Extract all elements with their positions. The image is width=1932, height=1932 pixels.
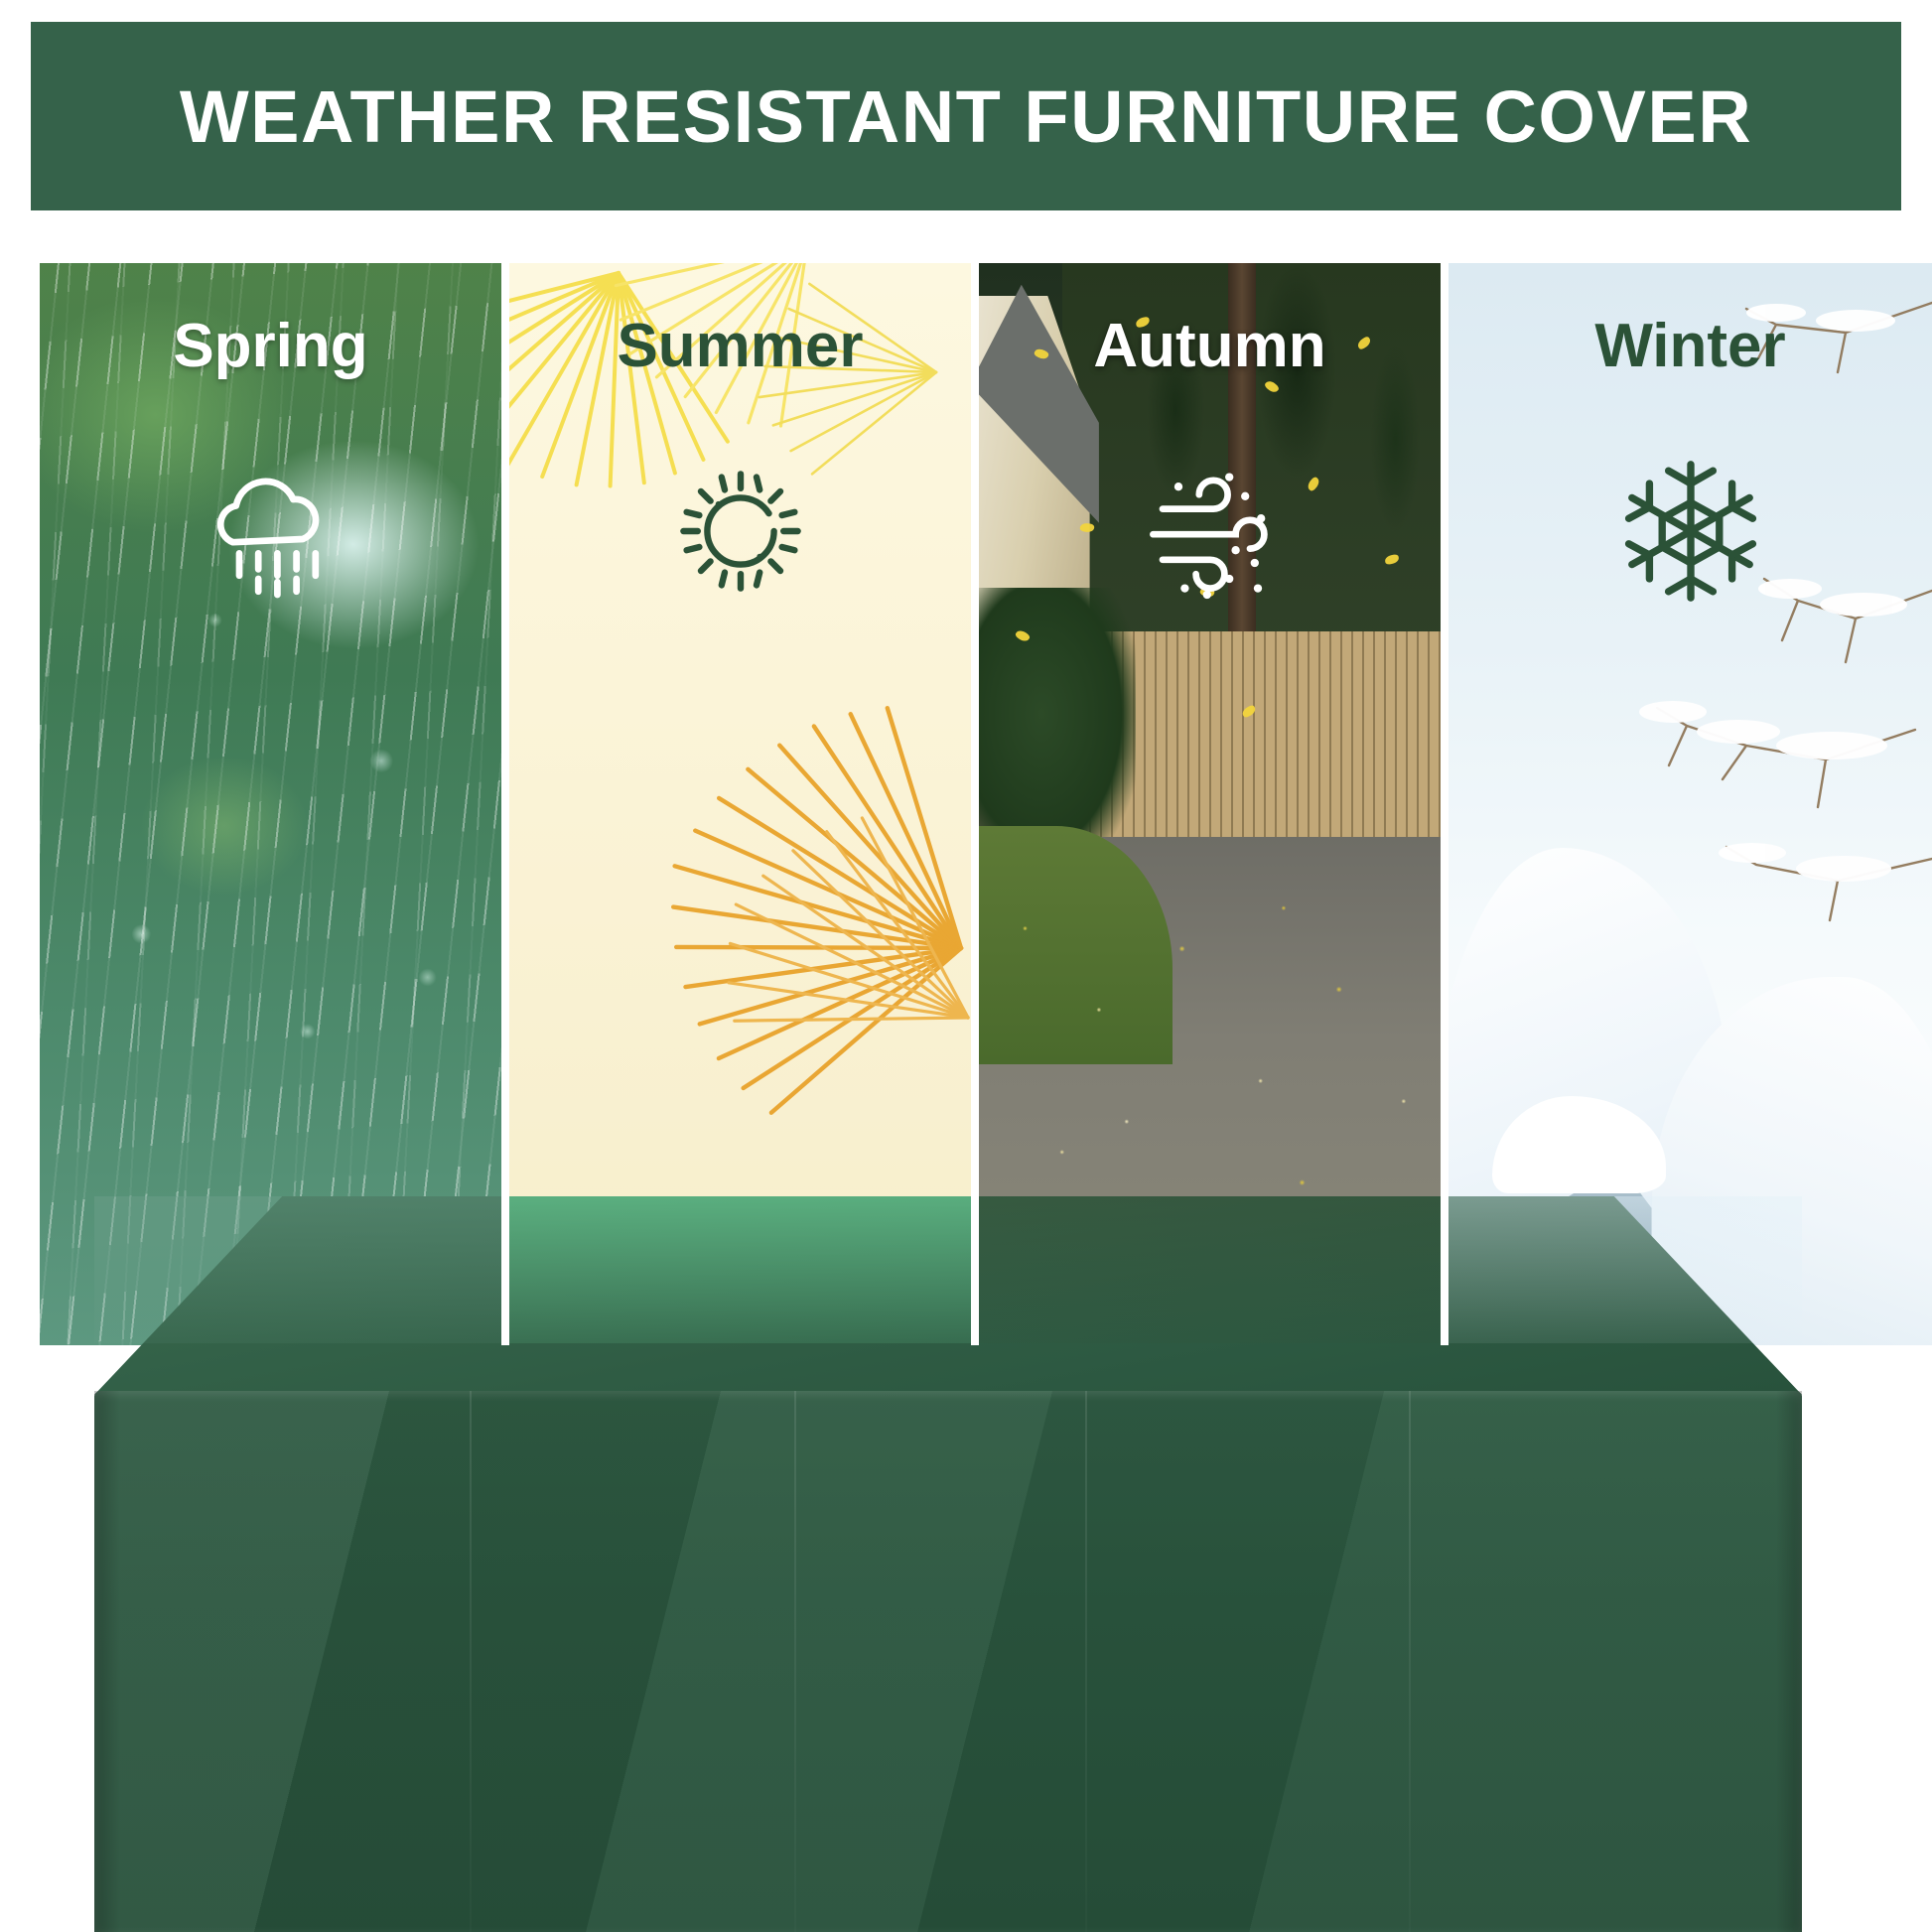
season-panel-spring: Spring	[40, 263, 501, 1345]
panel-seam	[32, 263, 40, 1345]
wind-icon	[1131, 452, 1290, 611]
cover-fold	[1409, 1391, 1411, 1932]
winter-scene-art	[1449, 263, 1932, 1345]
rain-cloud-icon	[192, 452, 350, 611]
autumn-scene-art	[979, 263, 1441, 1345]
cover-fold	[470, 1391, 472, 1932]
page-title: WEATHER RESISTANT FURNITURE COVER	[180, 74, 1752, 159]
cover-front-panel	[94, 1391, 1802, 1932]
season-label-spring: Spring	[40, 311, 501, 381]
sun-icon	[661, 452, 820, 611]
palm-frond-top	[509, 263, 971, 1345]
palm-frond-bottom	[617, 664, 971, 1151]
cover-top-surface	[94, 1196, 1802, 1395]
product-marketing-image: Spring	[0, 0, 1932, 1932]
season-panel-winter: Winter	[1449, 263, 1932, 1345]
season-panel-summer: Summer	[509, 263, 971, 1345]
cover-fold	[794, 1391, 796, 1932]
panel-seam	[1441, 263, 1449, 1345]
rain-streaks	[40, 263, 501, 1345]
furniture-cover	[0, 1196, 1932, 1932]
snowflake-icon	[1611, 452, 1770, 611]
season-panel-autumn: Autumn	[979, 263, 1441, 1345]
summer-scene-art	[509, 263, 971, 1345]
season-label-autumn: Autumn	[979, 311, 1441, 381]
season-label-winter: Winter	[1449, 311, 1932, 381]
cover-right-edge	[1776, 1391, 1802, 1932]
cover-left-edge	[94, 1391, 120, 1932]
panel-seam	[971, 263, 979, 1345]
panel-seam	[501, 263, 509, 1345]
season-label-summer: Summer	[509, 311, 971, 381]
header-banner: WEATHER RESISTANT FURNITURE COVER	[31, 22, 1901, 210]
spring-scene-art	[40, 263, 501, 1345]
cover-fold	[1085, 1391, 1087, 1932]
